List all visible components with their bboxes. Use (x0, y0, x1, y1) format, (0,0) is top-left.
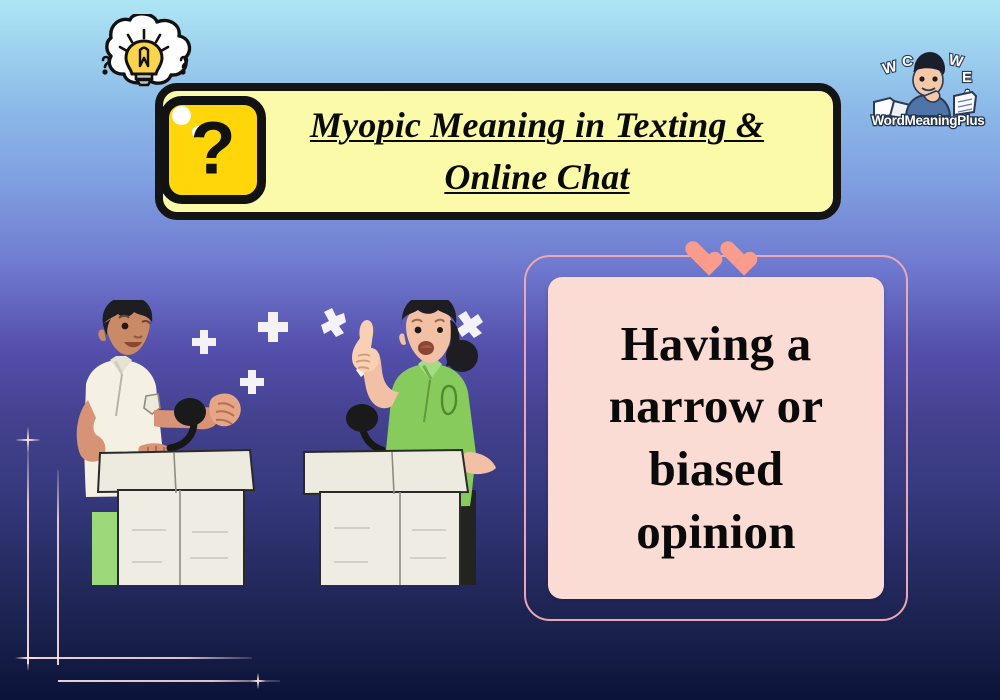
heart-icon-left (685, 241, 713, 267)
podium-right (304, 450, 468, 585)
heart-decorations (685, 241, 748, 267)
svg-text:E: E (962, 69, 972, 86)
bracket-line-horizontal-outer (58, 680, 280, 682)
sparkle-star-right-icon (250, 673, 266, 689)
sparkle-star-top-icon (15, 427, 41, 453)
microphone-right (346, 404, 382, 450)
bracket-line-horizontal-inner (30, 657, 252, 659)
svg-text:C: C (902, 53, 913, 70)
bracket-line-vertical-inner (27, 448, 29, 664)
svg-text:W: W (881, 58, 900, 78)
bracket-line-vertical-outer (57, 470, 59, 665)
brand-logo[interactable]: W C W E A (862, 44, 994, 132)
heart-icon-right (720, 241, 748, 267)
infographic-canvas: Myopic Meaning in Texting & Online Chat … (0, 0, 1000, 700)
definition-text: Having a narrow or biased opinion (548, 313, 884, 564)
sparkle-star-corner-icon (15, 645, 41, 671)
two-people-debating-at-podiums-illustration (62, 300, 522, 585)
question-mark-glyph: ? (169, 112, 257, 186)
brand-name: WordMeaningPlus (862, 113, 994, 128)
definition-card: Having a narrow or biased opinion (548, 277, 884, 599)
question-mark-icon: ? (160, 96, 266, 204)
podium-left (98, 450, 254, 585)
